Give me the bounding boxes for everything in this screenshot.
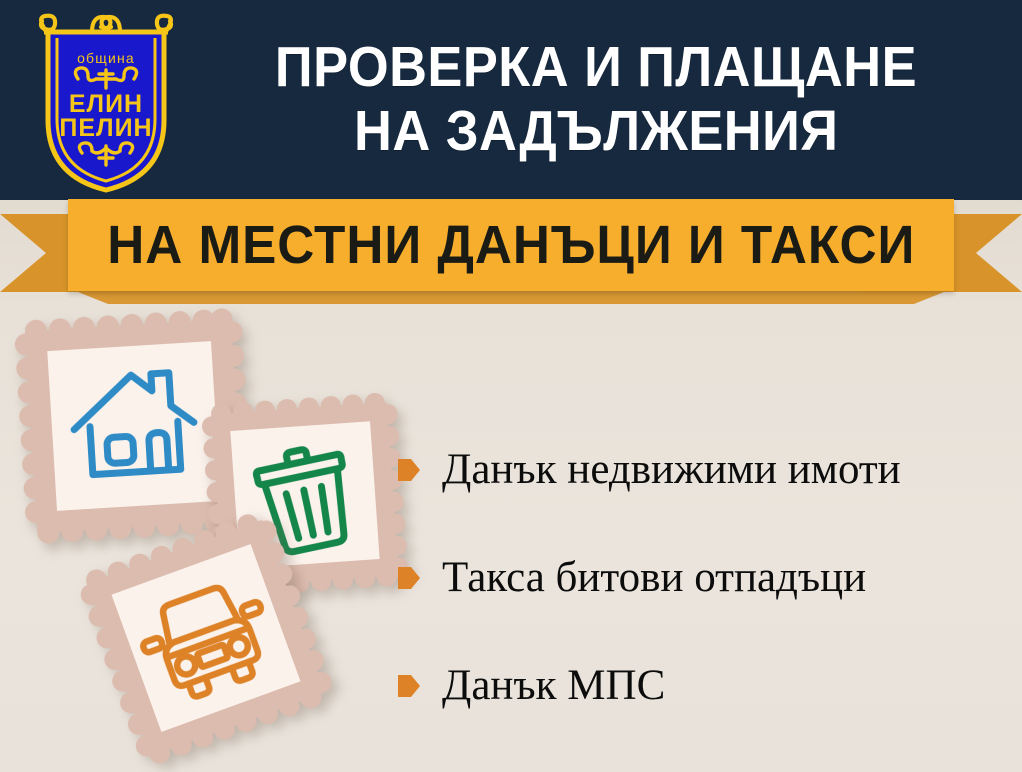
svg-text:община: община xyxy=(77,50,135,66)
title-line-2: НА ЗАДЪЛЖЕНИЯ xyxy=(354,100,838,164)
tax-type-list: Данък недвижими имоти Такса битови отпад… xyxy=(398,415,1008,739)
tax-label-waste: Такса битови отпадъци xyxy=(442,556,866,599)
svg-text:ПЕЛИН: ПЕЛИН xyxy=(59,114,152,142)
ribbon-main-panel: НА МЕСТНИ ДАНЪЦИ И ТАКСИ xyxy=(68,199,954,291)
bullet-arrow-icon xyxy=(398,673,420,699)
list-item[interactable]: Такса битови отпадъци xyxy=(398,523,1008,631)
bullet-arrow-icon xyxy=(398,565,420,591)
ribbon-banner: НА МЕСТНИ ДАНЪЦИ И ТАКСИ xyxy=(0,196,1022,306)
list-item[interactable]: Данък МПС xyxy=(398,631,1008,739)
bullet-arrow-icon xyxy=(398,457,420,483)
header-bar: община ЕЛИН ПЕЛИН xyxy=(0,0,1022,200)
page-title: ПРОВЕРКА И ПЛАЩАНЕ НА ЗАДЪЛЖЕНИЯ xyxy=(190,20,1002,180)
title-line-1: ПРОВЕРКА И ПЛАЩАНЕ xyxy=(275,36,917,100)
ribbon-text: НА МЕСТНИ ДАНЪЦИ И ТАКСИ xyxy=(107,214,915,276)
tax-label-vehicle: Данък МПС xyxy=(442,664,665,707)
poster-canvas: община ЕЛИН ПЕЛИН xyxy=(0,0,1022,772)
coat-of-arms-icon: община ЕЛИН ПЕЛИН xyxy=(26,8,186,193)
tax-label-property: Данък недвижими имоти xyxy=(442,448,901,491)
list-item[interactable]: Данък недвижими имоти xyxy=(398,415,1008,523)
